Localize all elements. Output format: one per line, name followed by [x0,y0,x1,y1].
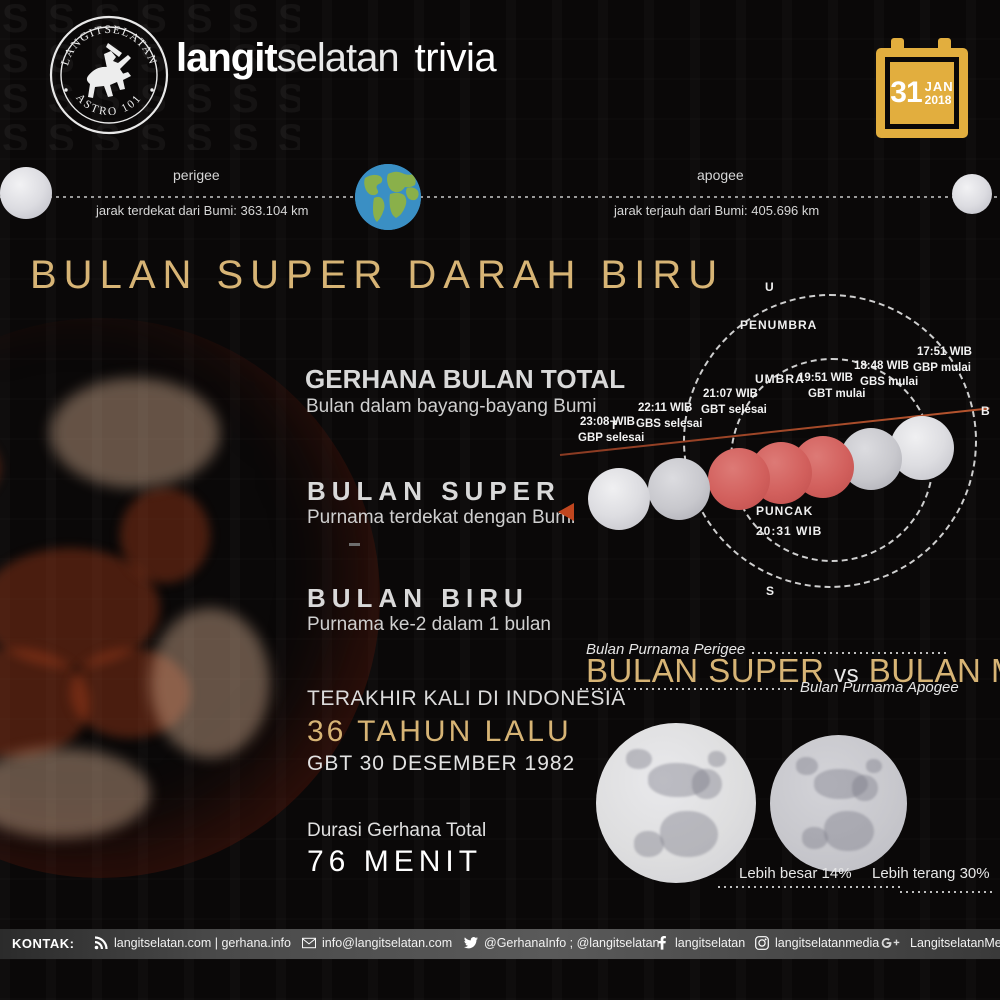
footer-twitter-text: @GerhanaInfo ; @langitselatan [484,936,659,950]
brand-trivia: trivia [415,36,496,80]
phase-event-0: GBP selesai [578,432,644,444]
footer-facebook-text: langitselatan [675,936,745,950]
divider-dash [349,543,360,546]
fact-heading-bulan-biru: BULAN BIRU [307,583,529,614]
apogee-label: apogee [697,167,744,183]
footer-item-email[interactable]: info@langitselatan.com [302,936,452,950]
phase-event-3: GBT mulai [808,388,866,400]
infographic-root: S LANGITSELATAN ASTRO 101 langitselatant… [0,0,1000,1000]
eclipse-path-diagram: U S T B PENUMBRA UMBRA PUNCAK 20:31 WIB … [560,276,1000,616]
footer-item-facebook[interactable]: langitselatan [655,936,745,950]
langitselatan-logo[interactable]: LANGITSELATAN ASTRO 101 [48,14,170,136]
eclipse-moon-2308 [588,468,650,530]
super-vs-mini-bottom-rule [580,688,792,690]
apogee-distance: jarak terjauh dari Bumi: 405.696 km [614,203,819,218]
track-arrow-icon [558,503,574,521]
kontak-label: KONTAK: [12,936,74,951]
phase-time-5: 17:51 WIB [917,346,972,358]
phase-event-4: GBS mulai [860,376,918,388]
cardinal-south-label: S [766,584,775,598]
googleplus-icon [880,936,904,950]
phase-time-3: 19:51 WIB [798,372,853,384]
phase-time-1: 22:11 WIB [638,402,692,414]
fact-heading-bulan-super: BULAN SUPER [307,476,561,507]
phase-time-0: 23:08 WIB [580,416,635,428]
penumbra-label: PENUMBRA [740,318,817,332]
caption-lebih-terang: Lebih terang 30% [872,865,990,882]
calendar-month: JAN [925,80,954,94]
instagram-icon [755,936,769,950]
cardinal-north-label: U [765,280,775,294]
centaur-figure [87,43,131,98]
super-moon-graphic [596,723,756,883]
phase-event-5: GBP mulai [913,362,971,374]
calendar-date-card: 31 JAN 2018 [890,62,954,124]
phase-event-1: GBS selesai [636,418,702,430]
brand-wordmark: langitselatantrivia [176,36,496,81]
phase-time-2: 21:07 WIB [703,388,758,400]
mail-icon [302,936,316,950]
duration-value: 76 MENIT [307,845,482,879]
rss-icon [94,936,108,950]
phase-time-4: 18:48 WIB [854,360,909,372]
eclipse-moon-2107 [708,448,770,510]
footer-item-googleplus[interactable]: LangitselatanMedia [880,936,1000,950]
apogee-moon-icon [952,174,992,214]
fact-sub-bulan-biru: Purnama ke-2 dalam 1 bulan [307,614,551,636]
calendar-year: 2018 [925,94,954,107]
peak-label: PUNCAK [756,504,813,518]
phase-event-2: GBT selesai [701,404,767,416]
cardinal-west-label: B [981,404,991,418]
eclipse-moon-2211 [648,458,710,520]
footer-website-text: langitselatan.com | gerhana.info [114,936,291,950]
caption-lebih-besar: Lebih besar 14% [739,865,852,882]
mini-moon-graphic [770,735,907,872]
perigee-label: perigee [173,167,220,183]
calendar-inner: 31 JAN 2018 [885,57,959,129]
footer-instagram-text: langitselatanmedia [775,936,879,950]
twitter-icon [464,936,478,950]
years-ago-value: 36 TAHUN LALU [307,715,572,749]
fact-sub-bulan-super: Purnama terdekat dengan Bumi [307,507,575,529]
calendar-day: 31 [890,78,921,108]
brand-langit: langit [176,36,277,80]
footer-item-twitter[interactable]: @GerhanaInfo ; @langitselatan [464,936,659,950]
caption-rule-brighter [900,891,996,893]
fact-sub-gerhana-bulan-total: Bulan dalam bayang-bayang Bumi [306,396,596,418]
duration-label: Durasi Gerhana Total [307,820,486,842]
perigee-distance: jarak terdekat dari Bumi: 363.104 km [96,203,308,218]
footer-item-instagram[interactable]: langitselatanmedia [755,936,879,950]
facebook-icon [655,936,669,950]
footer-googleplus-text: LangitselatanMedia [910,936,1000,950]
footer-email-text: info@langitselatan.com [322,936,452,950]
earth-icon [355,164,421,230]
peak-time: 20:31 WIB [756,524,822,538]
caption-rule-bigger [718,886,900,888]
last-event-date: GBT 30 DESEMBER 1982 [307,752,575,776]
perigee-apogee-axis [0,196,1000,198]
calendar-body: 31 JAN 2018 [876,48,968,138]
footer-item-website[interactable]: langitselatan.com | gerhana.info [94,936,291,950]
super-vs-mini-bottom-caption: Bulan Purnama Apogee [800,679,959,696]
title-bulan-super: BULAN SUPER [586,652,824,689]
calendar-icon: 31 JAN 2018 [876,38,968,138]
last-occurrence-label: TERAKHIR KALI DI INDONESIA [307,687,626,711]
perigee-moon-icon [0,167,52,219]
brand-selatan: selatan [277,36,399,80]
